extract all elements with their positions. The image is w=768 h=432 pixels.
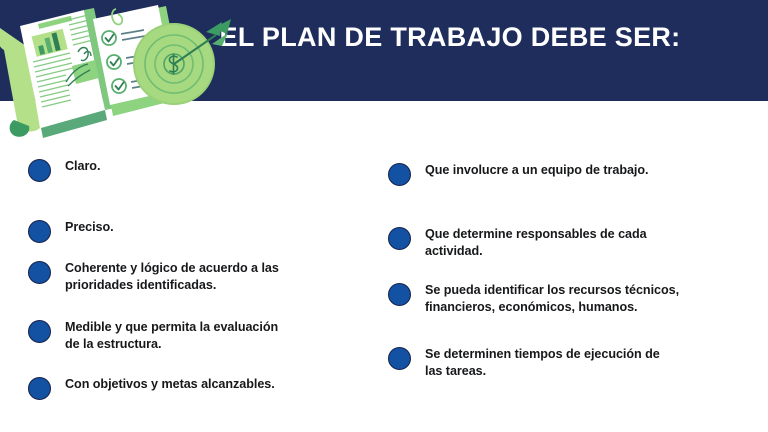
work-plan-illustration [0,2,236,144]
bullet-dot-icon [388,283,411,306]
bullet-dot-icon [388,347,411,370]
list-item[interactable]: Preciso. [28,219,358,243]
list-item-label: Preciso. [65,219,114,236]
list-item[interactable]: Medible y que permita la evaluación de l… [28,319,358,352]
list-item[interactable]: Que involucre a un equipo de trabajo. [388,162,740,186]
list-item[interactable]: Con objetivos y metas alcanzables. [28,376,358,400]
bullet-dot-icon [28,261,51,284]
list-item[interactable]: Coherente y lógico de acuerdo a las prio… [28,260,358,293]
list-item-label: Con objetivos y metas alcanzables. [65,376,275,393]
list-item-label: Que involucre a un equipo de trabajo. [425,162,648,179]
list-item[interactable]: Se pueda identificar los recursos técnic… [388,282,740,315]
bullet-dot-icon [388,227,411,250]
page-title: EL PLAN DE TRABAJO DEBE SER: [200,18,700,57]
list-item[interactable]: Claro. [28,158,358,182]
list-item-label: Se pueda identificar los recursos técnic… [425,282,679,315]
slide: EL PLAN DE TRABAJO DEBE SER: Claro. Prec… [0,0,768,432]
list-item[interactable]: Se determinen tiempos de ejecución de la… [388,346,740,379]
list-item[interactable]: Que determine responsables de cada activ… [388,226,740,259]
list-item-label: Medible y que permita la evaluación de l… [65,319,278,352]
list-item-label: Que determine responsables de cada activ… [425,226,647,259]
bullet-dot-icon [28,159,51,182]
list-item-label: Claro. [65,158,100,175]
bullet-content: Claro. Preciso. Coherente y lógico de ac… [0,101,768,432]
bullet-dot-icon [28,320,51,343]
list-item-label: Se determinen tiempos de ejecución de la… [425,346,660,379]
bullet-dot-icon [28,377,51,400]
bullet-dot-icon [28,220,51,243]
list-item-label: Coherente y lógico de acuerdo a las prio… [65,260,279,293]
bullet-dot-icon [388,163,411,186]
